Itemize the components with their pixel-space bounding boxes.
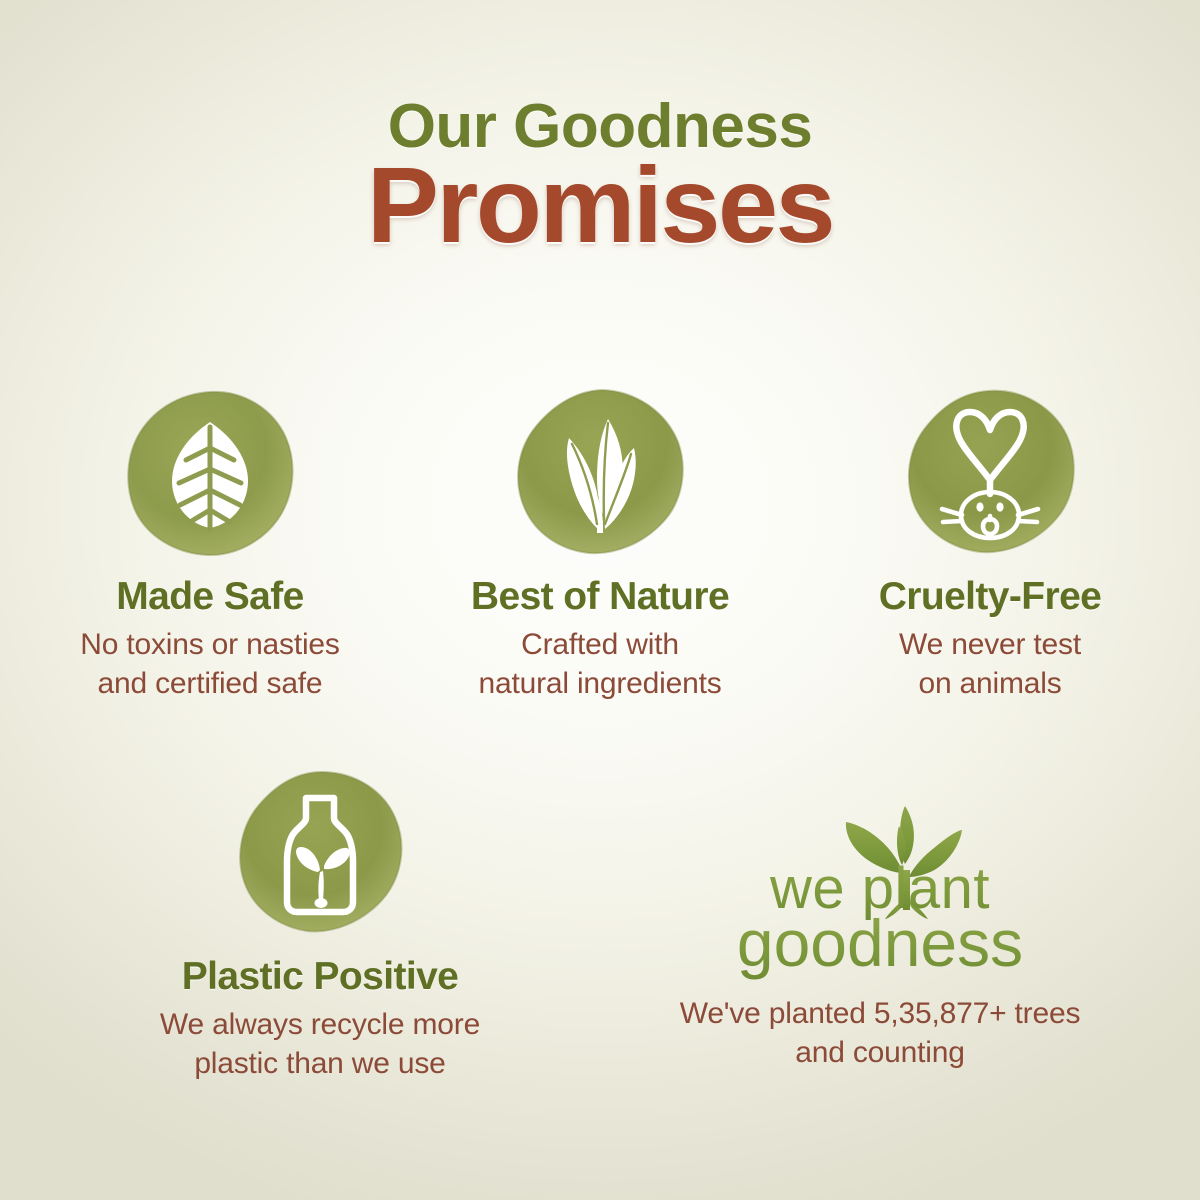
promise-card-cruelty-free: Cruelty-Free We never test on animals: [795, 386, 1185, 703]
sprout-leaves-icon: [512, 386, 688, 562]
promise-body-line: We always recycle more: [160, 1006, 480, 1044]
promise-card-made-safe: Made Safe No toxins or nasties and certi…: [15, 386, 405, 703]
promise-body-line: plastic than we use: [160, 1045, 480, 1083]
page-title: Our Goodness Promises: [0, 96, 1200, 260]
promise-body-line: and certified safe: [80, 665, 339, 703]
promises-row-top: Made Safe No toxins or nasties and certi…: [0, 386, 1200, 703]
promise-title: Best of Nature: [471, 576, 729, 618]
promise-body: Crafted with natural ingredients: [478, 626, 721, 703]
promise-title: Plastic Positive: [182, 956, 459, 998]
logo-line-two: goodness: [737, 906, 1023, 980]
bunny-heart-icon: [902, 386, 1078, 562]
promise-card-best-of-nature: Best of Nature Crafted with natural ingr…: [405, 386, 795, 703]
promise-title: Made Safe: [116, 576, 304, 618]
promise-body: We always recycle more plastic than we u…: [160, 1006, 480, 1083]
promise-body-line: Crafted with: [478, 626, 721, 664]
title-line-two: Promises: [0, 150, 1200, 260]
leaf-icon: [122, 386, 298, 562]
tree-count-line: We've planted 5,35,877+ trees: [680, 994, 1081, 1033]
promise-body: No toxins or nasties and certified safe: [80, 626, 339, 703]
badge-made-safe: [122, 386, 298, 562]
promises-poster: Our Goodness Promises: [0, 0, 1200, 1200]
promises-row-bottom: Plastic Positive We always recycle more …: [0, 760, 1200, 1083]
we-plant-goodness-logo-svg: we plant goodness: [700, 800, 1060, 990]
promise-body-line: on animals: [899, 665, 1081, 703]
we-plant-goodness-block: we plant goodness we plant goodness We'v…: [600, 760, 1160, 1072]
badge-cruelty-free: [902, 386, 1078, 562]
bottle-sprout-icon: [232, 766, 408, 942]
promise-card-plastic-positive: Plastic Positive We always recycle more …: [40, 760, 600, 1083]
badge-best-of-nature: [512, 386, 688, 562]
promise-body: We never test on animals: [899, 626, 1081, 703]
promise-body-line: natural ingredients: [478, 665, 721, 703]
tree-count-caption: We've planted 5,35,877+ trees and counti…: [680, 994, 1081, 1072]
promise-body-line: No toxins or nasties: [80, 626, 339, 664]
tree-count-line: and counting: [680, 1033, 1081, 1072]
we-plant-goodness-logo: we plant goodness we plant goodness: [700, 800, 1060, 990]
badge-plastic-positive: [232, 766, 408, 942]
promise-title: Cruelty-Free: [879, 576, 1102, 618]
promise-body-line: We never test: [899, 626, 1081, 664]
